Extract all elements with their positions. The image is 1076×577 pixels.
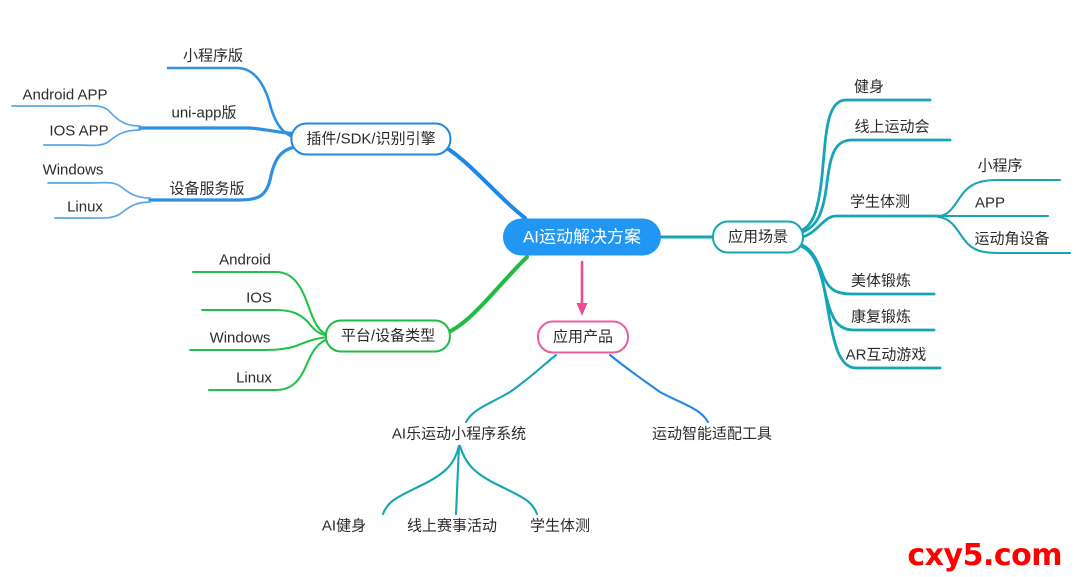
mindmap-canvas: AI运动解决方案 插件/SDK/识别引擎 小程序版 uni-app版 Andro… <box>0 0 1076 577</box>
node-platform-device-type[interactable]: 平台/设备类型 <box>325 320 451 353</box>
node-android[interactable]: Android <box>219 253 271 268</box>
link-plugin-to-uniapp <box>140 128 305 134</box>
node-smart-adaptation-tool[interactable]: 运动智能适配工具 <box>652 427 772 442</box>
link-aile-to-fitnesstest <box>460 446 537 514</box>
link-plugin-to-miniprogram <box>168 68 305 139</box>
node-body-shaping-exercise[interactable]: 美体锻炼 <box>851 274 911 289</box>
node-android-app[interactable]: Android APP <box>22 88 107 103</box>
node-online-events[interactable]: 线上赛事活动 <box>407 519 497 534</box>
watermark: cxy5.com <box>907 541 1062 571</box>
link-scenarios-to-fitnesstest <box>795 216 938 238</box>
node-uniapp-version[interactable]: uni-app版 <box>171 106 236 121</box>
link-products-to-adapter <box>610 355 708 422</box>
arrowhead-products <box>577 303 588 316</box>
node-windows-plugin[interactable]: Windows <box>43 163 104 178</box>
node-student-fitness-test[interactable]: 学生体测 <box>850 195 910 210</box>
node-aile-miniprogram-system[interactable]: AI乐运动小程序系统 <box>392 427 526 442</box>
node-app-products[interactable]: 应用产品 <box>537 321 629 354</box>
node-app[interactable]: APP <box>975 196 1005 211</box>
link-center-to-plugin <box>437 142 525 218</box>
link-products-to-aile <box>466 355 556 422</box>
link-aile-to-events <box>456 446 459 514</box>
node-fitness[interactable]: 健身 <box>854 80 884 95</box>
central-node[interactable]: AI运动解决方案 <box>503 219 661 256</box>
node-linux-plugin[interactable]: Linux <box>67 200 103 215</box>
node-student-fitness-test-product[interactable]: 学生体测 <box>530 519 590 534</box>
node-device-service-version[interactable]: 设备服务版 <box>169 182 244 197</box>
node-linux[interactable]: Linux <box>236 371 272 386</box>
node-application-scenarios[interactable]: 应用场景 <box>712 221 804 254</box>
node-ios-app[interactable]: IOS APP <box>49 124 108 139</box>
link-center-to-platform <box>444 257 527 334</box>
node-rehabilitation-exercise[interactable]: 康复锻炼 <box>851 310 911 325</box>
node-ios[interactable]: IOS <box>246 291 272 306</box>
node-windows[interactable]: Windows <box>210 331 271 346</box>
node-ar-interactive-game[interactable]: AR互动游戏 <box>846 348 927 363</box>
node-sports-corner-equipment[interactable]: 运动角设备 <box>974 232 1049 247</box>
node-online-sports-meeting[interactable]: 线上运动会 <box>854 120 929 135</box>
link-device-to-windows <box>48 183 150 198</box>
link-scenarios-to-sportsmeet <box>795 140 950 234</box>
connector-lines <box>0 0 1076 577</box>
node-miniprogram-version[interactable]: 小程序版 <box>183 49 243 64</box>
node-miniprogram[interactable]: 小程序 <box>977 159 1022 174</box>
node-ai-fitness[interactable]: AI健身 <box>322 519 366 534</box>
link-aile-to-fitness <box>383 446 459 514</box>
node-plugin-sdk[interactable]: 插件/SDK/识别引擎 <box>290 123 451 156</box>
